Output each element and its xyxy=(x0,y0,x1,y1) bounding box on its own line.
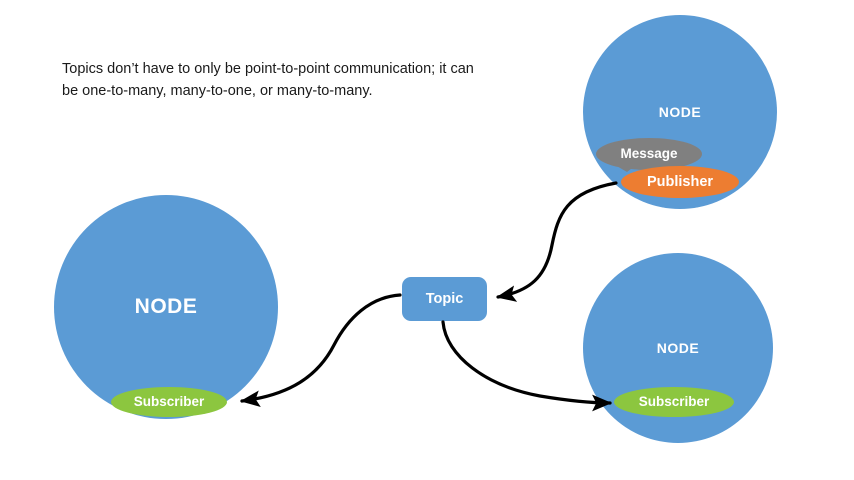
subscriber-ellipse-right[interactable] xyxy=(614,387,734,417)
diagram-canvas: Topics don’t have to only be point-to-po… xyxy=(0,0,854,480)
subscriber-ellipse-left[interactable] xyxy=(111,387,227,417)
arrow-publisher-to-topic xyxy=(498,183,616,297)
node-circle-left[interactable] xyxy=(54,195,278,419)
publisher-ellipse[interactable] xyxy=(621,166,739,198)
caption-text: Topics don’t have to only be point-to-po… xyxy=(62,58,492,102)
topic-box[interactable] xyxy=(402,277,487,321)
